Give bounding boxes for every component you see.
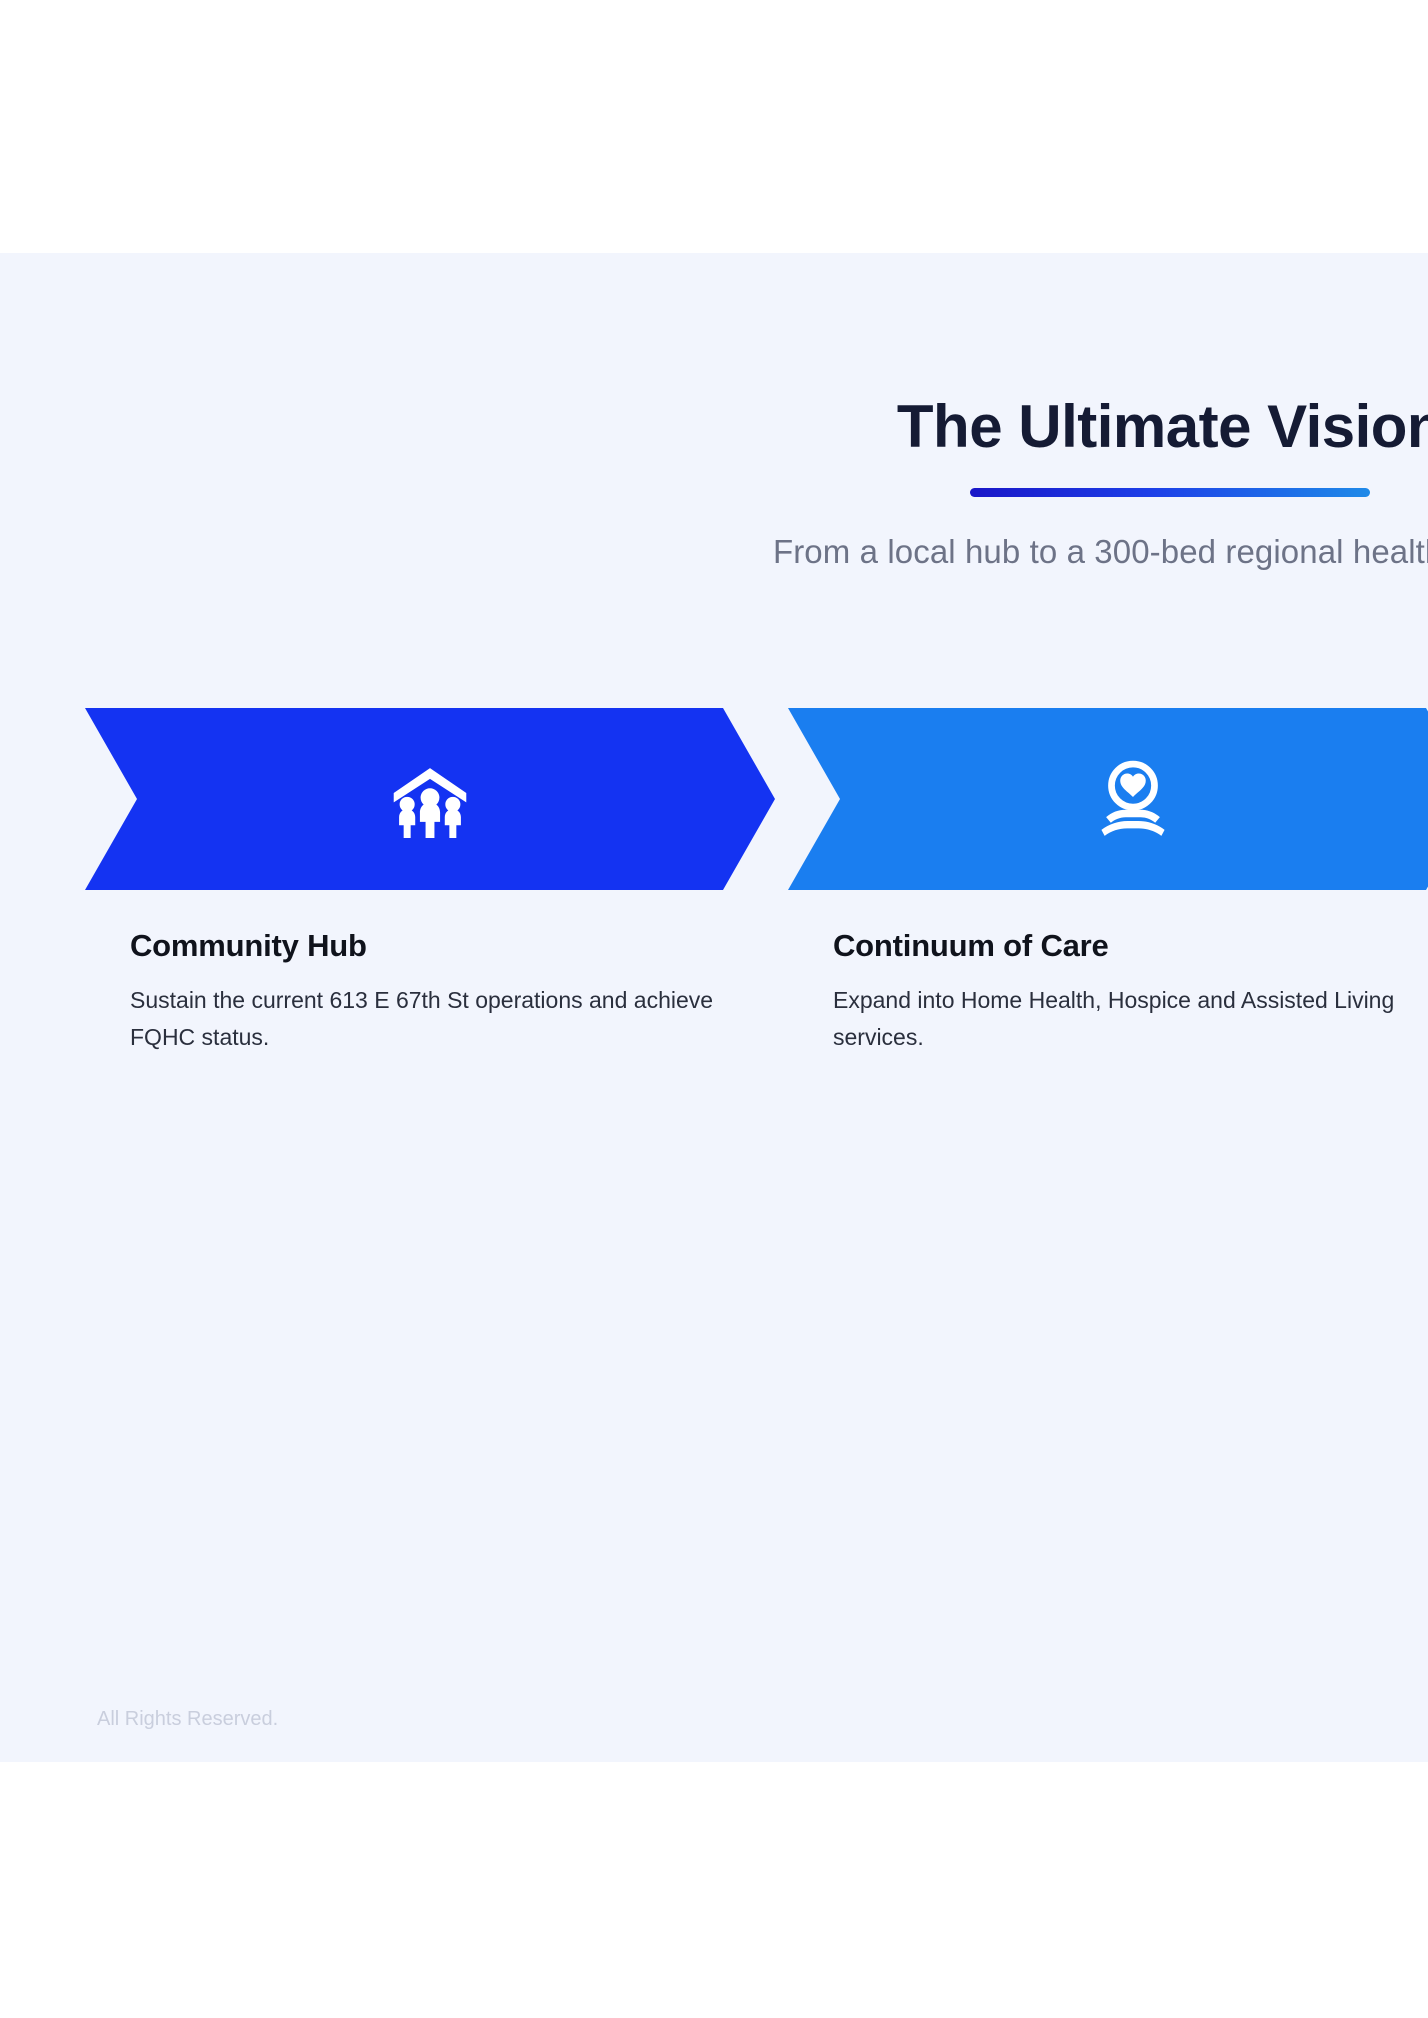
process-step-2-caption: Continuum of Care Expand into Home Healt… <box>788 928 1428 1057</box>
slide-footer: All Rights Reserved. <box>0 1708 1428 1731</box>
heart-hands-icon <box>1090 756 1176 842</box>
process-step-1-caption: Community Hub Sustain the current 613 E … <box>85 928 775 1057</box>
slide-surface: The Ultimate Vision From a local hub to … <box>0 253 1428 1762</box>
process-chevron-row <box>85 708 1428 890</box>
step-body: Sustain the current 613 E 67th St operat… <box>130 982 730 1057</box>
process-caption-row: Community Hub Sustain the current 613 E … <box>85 928 1428 1057</box>
slide-header: The Ultimate Vision From a local hub to … <box>0 253 1428 571</box>
process-step-1-band[interactable] <box>85 708 775 890</box>
step-title: Continuum of Care <box>833 928 1428 964</box>
page-title: The Ultimate Vision <box>0 393 1428 460</box>
process-step-2-band[interactable] <box>788 708 1428 890</box>
page-subtitle: From a local hub to a 300-bed regional h… <box>0 533 1428 571</box>
footer-copyright: All Rights Reserved. <box>97 1708 278 1731</box>
step-body: Expand into Home Health, Hospice and Ass… <box>833 982 1428 1057</box>
house-people-icon <box>387 756 473 842</box>
step-title: Community Hub <box>130 928 730 964</box>
title-underline-rule <box>970 488 1370 497</box>
